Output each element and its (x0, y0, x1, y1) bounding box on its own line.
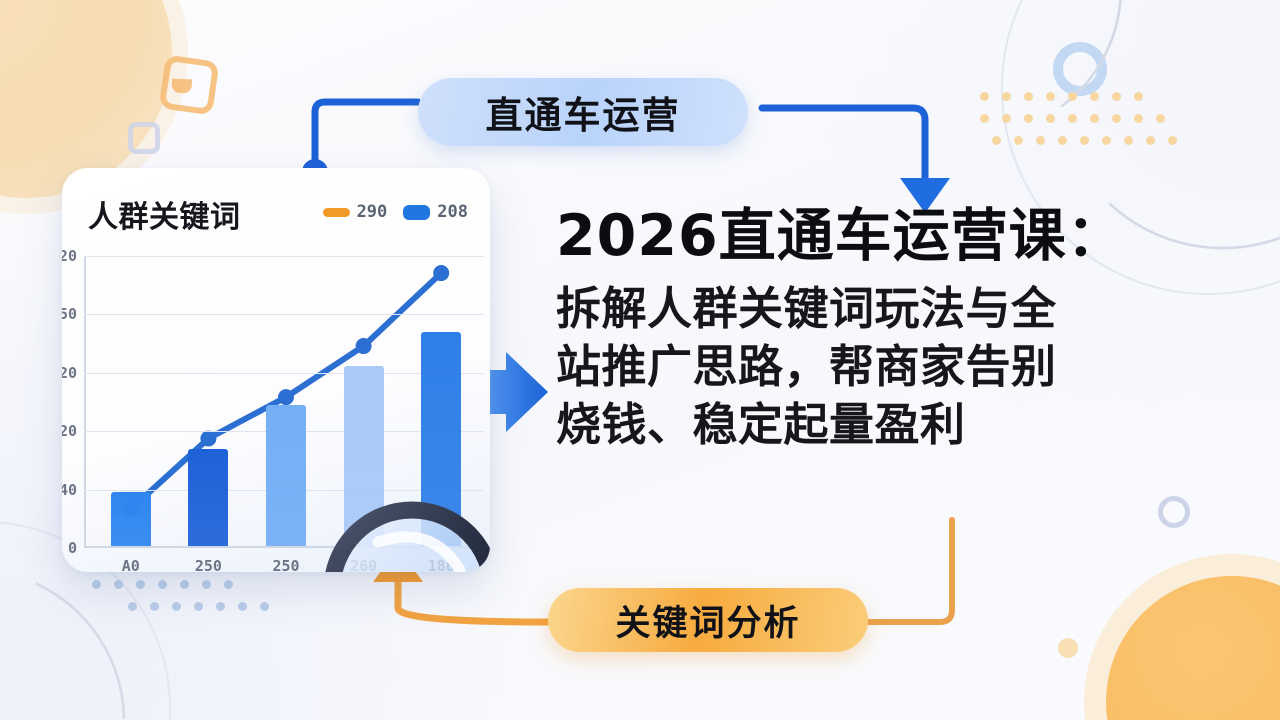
chart-bar (344, 366, 384, 546)
chart-bar (266, 405, 306, 546)
chart-line-point (278, 389, 294, 405)
chart-y-tick-label: 120 (62, 247, 77, 265)
chart-y-tick-label: 20 (62, 422, 77, 440)
chart-line-point (356, 338, 372, 354)
legend-label-line: 290 (357, 202, 388, 222)
page-title: 2026直通车运营课： (556, 206, 1244, 266)
badge-bottom[interactable]: 关键词分析 (548, 588, 868, 652)
chart-gridline (84, 256, 484, 257)
subtitle-line: 站推广思路，帮商家告别 (556, 338, 1244, 396)
legend-label-bar: 208 (437, 202, 468, 222)
chart-x-tick-label: 180 (428, 557, 455, 572)
chart-y-tick-label: 50 (62, 305, 77, 323)
chart-bar (111, 492, 151, 546)
copy-block: 2026直通车运营课： 拆解人群关键词玩法与全 站推广思路，帮商家告别 烧钱、稳… (556, 206, 1244, 453)
poster-canvas: 人群关键词 290 208 120502020400A0250250260180 (0, 0, 1280, 720)
chart-bar (421, 332, 461, 546)
chart-x-tick-label: 260 (350, 557, 377, 572)
connector-line-top-right (762, 108, 925, 180)
chart-line-point (200, 431, 216, 447)
chart-bar (188, 449, 228, 546)
subtitle-line: 烧钱、稳定起量盈利 (556, 396, 1244, 454)
chart-title: 人群关键词 (88, 192, 241, 236)
legend-item-line: 290 (323, 202, 388, 222)
chart-card: 人群关键词 290 208 120502020400A0250250260180 (62, 168, 490, 572)
chart-gridline (84, 314, 484, 315)
legend-swatch-orange-icon (323, 208, 350, 217)
connector-line-bottom-left (398, 580, 548, 622)
chart-plot-area: 120502020400A0250250260180 (84, 256, 472, 548)
chart-y-tick-label: 0 (68, 539, 77, 557)
connector-line-bottom-right (866, 520, 952, 622)
chart-card-header: 人群关键词 290 208 (88, 190, 468, 238)
connector-line-top-left (315, 102, 418, 172)
badge-top[interactable]: 直通车运营 (418, 78, 748, 146)
chart-x-tick-label: 250 (195, 557, 222, 572)
chart-y-tick-label: 40 (62, 481, 77, 499)
legend-swatch-blue-icon (403, 205, 430, 220)
chart-x-tick-label: 250 (272, 557, 299, 572)
chart-y-tick-label: 20 (62, 364, 77, 382)
chart-x-tick-label: A0 (122, 557, 140, 572)
chart-line-point (433, 265, 449, 281)
subtitle-line: 拆解人群关键词玩法与全 (556, 280, 1244, 338)
legend-item-bar: 208 (403, 202, 468, 222)
chart-legend: 290 208 (323, 202, 468, 226)
subtitle-block: 拆解人群关键词玩法与全 站推广思路，帮商家告别 烧钱、稳定起量盈利 (556, 280, 1244, 453)
